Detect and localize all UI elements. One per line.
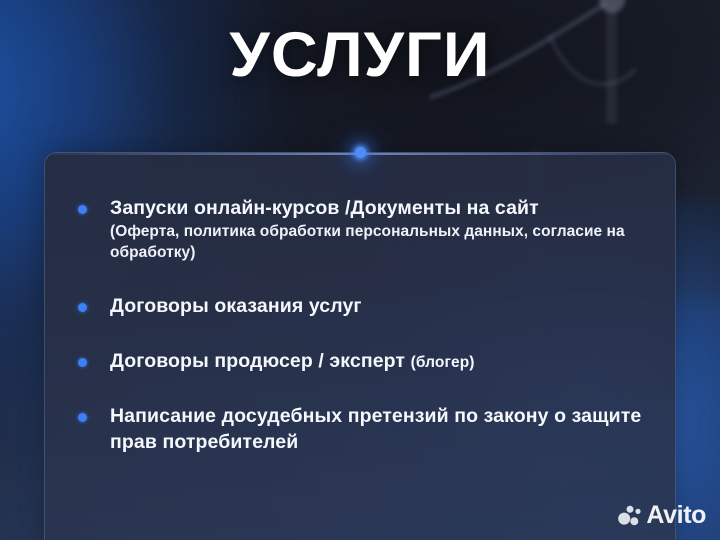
bullet-dot-icon bbox=[78, 205, 87, 214]
list-item-title: Написание досудебных претензий по закону… bbox=[110, 404, 650, 455]
slide-root: УСЛУГИ Запуски онлайн-курсов /Документы … bbox=[0, 0, 720, 540]
avito-dots-icon bbox=[618, 505, 641, 526]
list-item-subtitle: (Оферта, политика обработки персональных… bbox=[110, 222, 650, 263]
bullet-dot-icon bbox=[78, 413, 87, 422]
list-item-title: Договоры оказания услуг bbox=[110, 294, 650, 319]
list-item-title-note: (блогер) bbox=[411, 354, 475, 371]
list-item-title: Запуски онлайн-курсов /Документы на сайт bbox=[110, 196, 650, 221]
page-title: УСЛУГИ bbox=[0, 24, 720, 87]
avito-watermark: Avito bbox=[618, 503, 706, 528]
bullet-dot-icon bbox=[78, 303, 87, 312]
list-item: Написание досудебных претензий по закону… bbox=[78, 404, 650, 455]
bullet-dot-icon bbox=[78, 358, 87, 367]
list-item: Договоры продюсер / эксперт (блогер) bbox=[78, 349, 650, 374]
list-item-title-text: Договоры продюсер / эксперт bbox=[110, 350, 411, 372]
services-list: Запуски онлайн-курсов /Документы на сайт… bbox=[44, 152, 676, 455]
list-item: Договоры оказания услуг bbox=[78, 294, 650, 319]
list-item-title: Договоры продюсер / эксперт (блогер) bbox=[110, 349, 650, 374]
avito-brand-text: Avito bbox=[646, 503, 706, 528]
list-item: Запуски онлайн-курсов /Документы на сайт… bbox=[78, 196, 650, 264]
